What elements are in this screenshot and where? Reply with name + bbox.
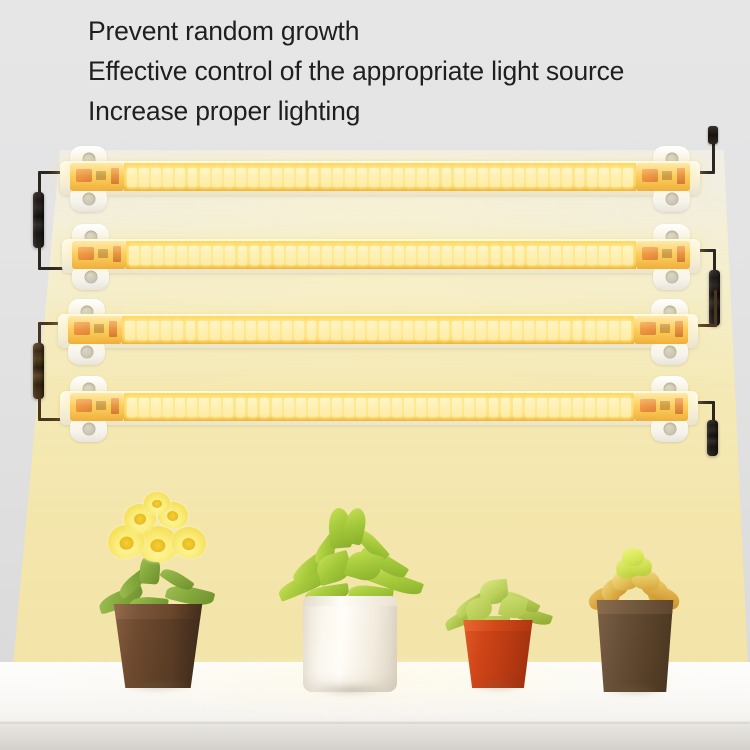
pot-shadow [105, 679, 211, 693]
flower-icon [169, 524, 209, 561]
led-chip [466, 246, 476, 265]
pot-shadow [298, 683, 401, 697]
power-plug-top [708, 126, 718, 144]
led-chip [417, 168, 427, 187]
plant-green-fern [303, 492, 397, 692]
plant-yellow-flowers [110, 478, 206, 688]
led-chip [537, 398, 547, 417]
led-chip [548, 321, 558, 340]
headline-line-3: Increase proper lighting [88, 94, 738, 129]
led-chip [464, 398, 474, 417]
led-chip [501, 398, 511, 417]
led-chip [163, 168, 173, 187]
led-chip [163, 398, 173, 417]
led-chip [141, 246, 151, 265]
led-chip [319, 321, 329, 340]
led-chip [153, 246, 163, 265]
led-chip [343, 321, 353, 340]
led-chip [621, 398, 631, 417]
endcap-left [72, 241, 126, 269]
led-chip [331, 321, 341, 340]
led-chip [238, 246, 248, 265]
led-chip [308, 398, 318, 417]
led-chip [262, 246, 272, 265]
led-chip [321, 168, 331, 187]
pot-shadow [458, 679, 537, 693]
led-chip [368, 398, 378, 417]
led-chip [489, 398, 499, 417]
led-chip [406, 246, 416, 265]
led-chip [222, 321, 232, 340]
led-chip [151, 398, 161, 417]
led-chip [526, 168, 536, 187]
led-chip [355, 321, 365, 340]
led-chip [246, 321, 256, 340]
led-chip [392, 398, 402, 417]
led-chip [466, 168, 476, 187]
led-chip [427, 321, 437, 340]
succulent-leaf-icon [622, 548, 644, 566]
led-chip [539, 246, 549, 265]
led-chip [345, 168, 355, 187]
plant-small-fern [462, 548, 534, 688]
led-chip [452, 398, 462, 417]
endcap-sheen [636, 163, 690, 176]
led-chip [234, 321, 244, 340]
endcap-right [634, 393, 688, 421]
table-front-face [0, 724, 750, 750]
led-chip [611, 168, 621, 187]
led-chip [597, 398, 607, 417]
led-chip [282, 321, 292, 340]
led-chip [452, 321, 462, 340]
led-chip [403, 321, 413, 340]
led-chip [394, 246, 404, 265]
led-chip [187, 398, 197, 417]
led-chip [236, 398, 246, 417]
led-chip [358, 246, 368, 265]
led-chip [198, 321, 208, 340]
led-chip [294, 321, 304, 340]
led-chip [260, 398, 270, 417]
endcap-sheen [636, 241, 690, 254]
led-chip [286, 246, 296, 265]
led-chip [478, 246, 488, 265]
led-chip [527, 246, 537, 265]
led-chip [575, 168, 585, 187]
led-chip [623, 246, 633, 265]
led-chip [440, 321, 450, 340]
led-chip [382, 246, 392, 265]
succulent-foliage [596, 542, 674, 610]
flower-foliage [110, 484, 206, 614]
flower-icon [144, 492, 170, 514]
headline-line-1: Prevent random growth [88, 14, 738, 49]
led-chip [550, 168, 560, 187]
led-bar-3[interactable] [58, 300, 698, 362]
led-chip [127, 398, 137, 417]
led-chip [322, 246, 332, 265]
led-chip [418, 246, 428, 265]
led-chip [139, 168, 149, 187]
led-chip [587, 246, 597, 265]
led-chip [379, 321, 389, 340]
led-chip [344, 398, 354, 417]
led-chip [476, 398, 486, 417]
endcap-left [68, 316, 122, 344]
led-chip [236, 168, 246, 187]
led-bar-1[interactable] [60, 147, 700, 209]
led-chip [250, 246, 260, 265]
endcap-sheen [70, 393, 124, 406]
led-chip [223, 398, 233, 417]
led-chip [381, 168, 391, 187]
pot-shadow [592, 683, 678, 697]
led-chip [165, 246, 175, 265]
led-chip [212, 168, 222, 187]
led-chip [213, 246, 223, 265]
led-chip [320, 398, 330, 417]
led-chip [429, 168, 439, 187]
led-chip [391, 321, 401, 340]
led-chip [440, 398, 450, 417]
led-chip [488, 321, 498, 340]
endcap-left [70, 163, 124, 191]
led-chip [161, 321, 171, 340]
led-chip [560, 321, 570, 340]
led-chip [127, 168, 137, 187]
led-chip [585, 321, 595, 340]
led-chip [442, 168, 452, 187]
led-chip [307, 321, 317, 340]
led-chip [478, 168, 488, 187]
led-chip [189, 246, 199, 265]
led-chip [442, 246, 452, 265]
led-chip [573, 398, 583, 417]
led-chip [587, 168, 597, 187]
endcap-left [70, 393, 124, 421]
led-chip [346, 246, 356, 265]
led-chip [393, 168, 403, 187]
led-chip [623, 168, 633, 187]
led-chip [298, 246, 308, 265]
led-chip [199, 398, 209, 417]
led-chip [173, 321, 183, 340]
cable-bar3-right-vertical [714, 290, 717, 327]
led-chip [476, 321, 486, 340]
led-chip [367, 321, 377, 340]
led-chip [211, 398, 221, 417]
led-chip [585, 398, 595, 417]
led-chip [609, 398, 619, 417]
led-chip [404, 398, 414, 417]
led-chip [512, 321, 522, 340]
led-chip [428, 398, 438, 417]
led-chip [573, 321, 583, 340]
endcap-right [636, 163, 690, 191]
endcap-right [636, 241, 690, 269]
led-chip [270, 321, 280, 340]
pot-brown-tapered [110, 604, 206, 688]
led-chip [248, 168, 258, 187]
led-chip [296, 398, 306, 417]
led-chip [272, 398, 282, 417]
led-chip [369, 168, 379, 187]
cable-connector-1 [33, 192, 44, 248]
led-chip [611, 246, 621, 265]
led-chip [200, 168, 210, 187]
led-chip [224, 168, 234, 187]
endcap-sheen [70, 163, 124, 176]
led-chip [248, 398, 258, 417]
led-chip [137, 321, 147, 340]
led-chip [513, 398, 523, 417]
led-chip [225, 246, 235, 265]
product-image-canvas: Prevent random growth Effective control … [0, 0, 750, 750]
led-chip [621, 321, 631, 340]
led-chip [129, 246, 139, 265]
led-chip [430, 246, 440, 265]
endcap-sheen [634, 393, 688, 406]
led-chip [563, 246, 573, 265]
led-chip [210, 321, 220, 340]
pot-dark-brown-square [596, 600, 674, 692]
led-chip [454, 168, 464, 187]
led-chip [599, 168, 609, 187]
led-bar-2[interactable] [62, 225, 700, 287]
led-chip [334, 246, 344, 265]
led-chip [175, 168, 185, 187]
led-chip [177, 246, 187, 265]
led-chip [201, 246, 211, 265]
led-chip [524, 321, 534, 340]
led-chip [284, 398, 294, 417]
led-chip [260, 168, 270, 187]
led-chip [454, 246, 464, 265]
led-chip [274, 246, 284, 265]
led-chip [356, 398, 366, 417]
led-chip [464, 321, 474, 340]
led-chip [296, 168, 306, 187]
led-chip [503, 246, 513, 265]
led-chip [490, 168, 500, 187]
plant-succulent [596, 512, 674, 692]
led-chip [515, 246, 525, 265]
led-chip [380, 398, 390, 417]
led-chip [309, 168, 319, 187]
led-chip [597, 321, 607, 340]
led-emitter-strip [124, 163, 636, 191]
led-chip [514, 168, 524, 187]
fern-foliage [303, 496, 397, 606]
led-chip [536, 321, 546, 340]
led-chip [416, 398, 426, 417]
led-chip [272, 168, 282, 187]
pot-rim [303, 596, 397, 606]
led-emitter-strip [122, 316, 634, 344]
endcap-sheen [72, 241, 126, 254]
led-chip [125, 321, 135, 340]
led-chip [357, 168, 367, 187]
led-chip [370, 246, 380, 265]
led-emitter-strip [124, 393, 634, 421]
led-chip [333, 168, 343, 187]
led-emitter-strip [126, 241, 636, 269]
headline-line-2: Effective control of the appropriate lig… [88, 54, 738, 89]
led-chip [405, 168, 415, 187]
endcap-sheen [634, 316, 688, 329]
led-chip [575, 246, 585, 265]
led-chip [502, 168, 512, 187]
endcap-sheen [68, 316, 122, 329]
headline-block: Prevent random growth Effective control … [88, 14, 738, 135]
cable-connector-4 [707, 420, 718, 456]
led-chip [562, 168, 572, 187]
led-chip [139, 398, 149, 417]
led-chip [149, 321, 159, 340]
pot-shading [171, 604, 206, 688]
led-chip [186, 321, 196, 340]
led-chip [500, 321, 510, 340]
led-chip [551, 246, 561, 265]
led-chip [284, 168, 294, 187]
pot-white-ceramic [303, 596, 397, 692]
led-chip [415, 321, 425, 340]
cable-connector-3 [33, 343, 44, 399]
endcap-right [634, 316, 688, 344]
led-chip [549, 398, 559, 417]
pot-rim [460, 620, 536, 631]
led-chip [491, 246, 501, 265]
led-chip [175, 398, 185, 417]
led-bar-4[interactable] [60, 377, 698, 439]
led-chip [258, 321, 268, 340]
led-chip [538, 168, 548, 187]
led-chip [310, 246, 320, 265]
led-chip [609, 321, 619, 340]
led-chip [599, 246, 609, 265]
led-chip [561, 398, 571, 417]
led-chip [188, 168, 198, 187]
pot-red-terracotta [462, 620, 534, 688]
led-chip [525, 398, 535, 417]
led-chip [332, 398, 342, 417]
led-chip [151, 168, 161, 187]
pot-rim [594, 600, 676, 614]
